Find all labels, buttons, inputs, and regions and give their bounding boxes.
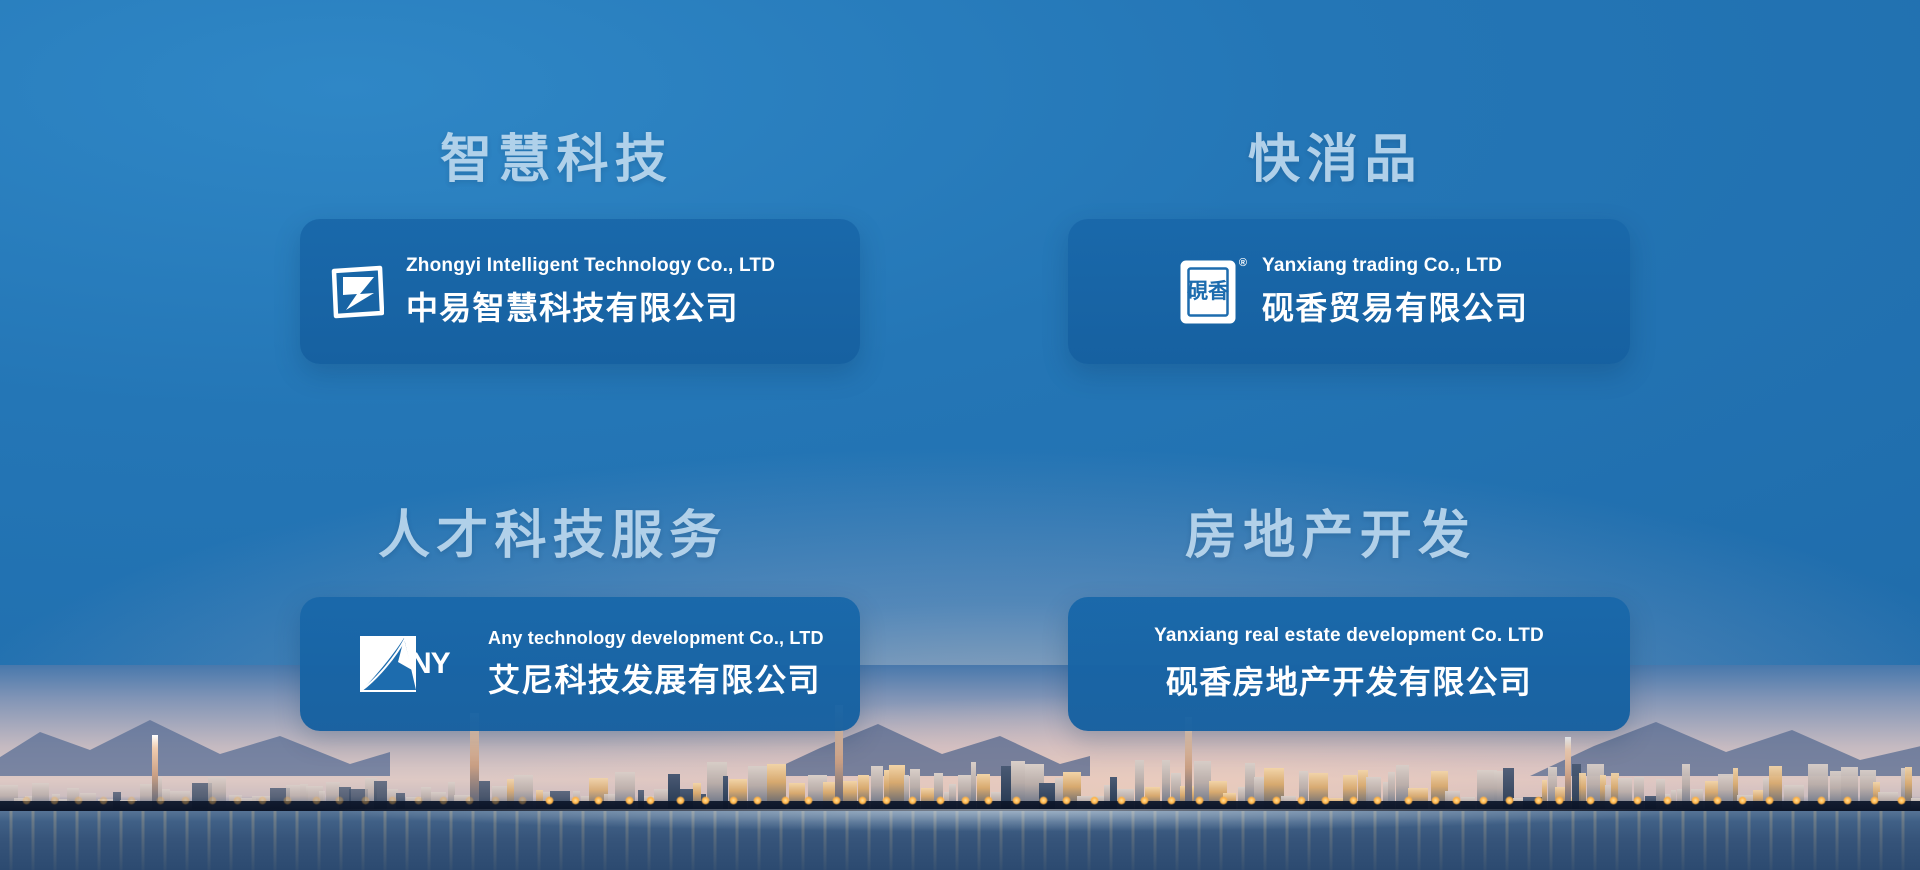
- category-title-real-estate: 房地产开发: [1185, 493, 1476, 568]
- category-title-smart-technology: 智慧科技: [440, 117, 673, 192]
- company-name-en: Zhongyi Intelligent Technology Co., LTD: [406, 255, 775, 277]
- company-name-cn: 砚香房地产开发有限公司: [1166, 657, 1532, 703]
- company-name-en: Yanxiang trading Co., LTD: [1262, 255, 1528, 277]
- company-name-cn: 中易智慧科技有限公司: [406, 283, 775, 329]
- seal-char-top: 硯香: [1187, 281, 1229, 302]
- company-card-yanxiang-trading[interactable]: 硯香 ® Yanxiang trading Co., LTD 砚香贸易有限公司: [1068, 219, 1630, 364]
- company-name-cn: 艾尼科技发展有限公司: [488, 655, 824, 701]
- company-name-en: Any technology development Co., LTD: [488, 628, 824, 649]
- zhongyi-name-block: Zhongyi Intelligent Technology Co., LTD …: [406, 255, 775, 329]
- category-title-fmcg: 快消品: [1248, 117, 1423, 192]
- company-card-zhongyi[interactable]: Zhongyi Intelligent Technology Co., LTD …: [300, 219, 860, 364]
- yanxiang-seal-logo-icon: 硯香 ®: [1180, 260, 1236, 324]
- company-card-yanxiang-real-estate[interactable]: Yanxiang real estate development Co. LTD…: [1068, 597, 1630, 731]
- registered-mark: ®: [1239, 257, 1247, 269]
- zhongyi-stamp-logo-icon: [330, 265, 384, 319]
- company-name-en: Yanxiang real estate development Co. LTD: [1154, 625, 1544, 647]
- sections-grid: 智慧科技 Zhongyi Intelligent Technology Co.,…: [0, 0, 1920, 870]
- page-stage: 智慧科技 Zhongyi Intelligent Technology Co.,…: [0, 0, 1920, 870]
- any-mountain-logo-icon: NY: [360, 636, 470, 692]
- company-name-cn: 砚香贸易有限公司: [1262, 283, 1528, 329]
- any-name-block: Any technology development Co., LTD 艾尼科技…: [488, 628, 824, 701]
- company-card-any-technology[interactable]: NY Any technology development Co., LTD 艾…: [300, 597, 860, 731]
- yanxiang-trading-name-block: Yanxiang trading Co., LTD 砚香贸易有限公司: [1262, 255, 1528, 329]
- category-title-talent-services: 人才科技服务: [378, 493, 727, 568]
